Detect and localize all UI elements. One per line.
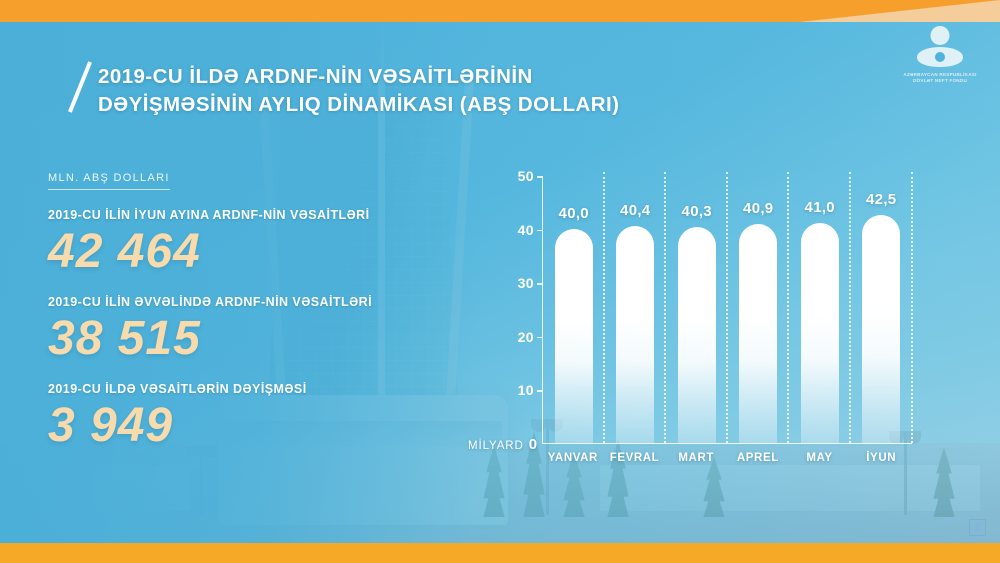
sofaz-logo-icon xyxy=(917,26,963,68)
y-axis-tick: 50 xyxy=(518,168,543,184)
stat-value: 42 464 xyxy=(48,223,448,281)
stat-block: 2019-CU İLDƏ VƏSAİTLƏRİN DƏYİŞMƏSİ 3 949 xyxy=(48,382,448,455)
slide: 2019-CU İLDƏ ARDNF-NİN VƏSAİTLƏRİNİN DƏY… xyxy=(0,0,1000,563)
bar-series: 40,040,440,340,941,042,5 xyxy=(543,176,912,443)
logo-head-shape xyxy=(931,26,950,45)
chart-plot-area: 50403020100 40,040,440,340,941,042,5 xyxy=(542,176,912,444)
bar-column[interactable]: 40,9 xyxy=(728,176,790,443)
logo-arms-shape xyxy=(917,47,963,67)
stat-value: 3 949 xyxy=(48,397,448,455)
y-axis-tick: 40 xyxy=(518,222,543,238)
stat-label: 2019-CU İLİN İYUN AYINA ARDNF-NİN VƏSAİT… xyxy=(48,208,448,222)
bar[interactable] xyxy=(739,224,777,443)
logo-text-line-2: DÖVLƏT NEFT FONDU xyxy=(892,78,988,84)
bar-value-label: 41,0 xyxy=(805,199,835,216)
bar-column[interactable]: 40,0 xyxy=(543,176,605,443)
stat-block: 2019-CU İLİN ƏVVƏLİNDƏ ARDNF-NİN VƏSAİTL… xyxy=(48,295,448,368)
y-axis-tick: 30 xyxy=(518,275,543,291)
bar-column[interactable]: 41,0 xyxy=(789,176,851,443)
x-axis-label: YANVAR xyxy=(542,452,604,464)
x-axis-label: MART xyxy=(665,452,727,464)
stat-block: 2019-CU İLİN İYUN AYINA ARDNF-NİN VƏSAİT… xyxy=(48,208,448,281)
bar[interactable] xyxy=(862,215,900,443)
page-number-badge: 2 xyxy=(969,519,986,536)
bar[interactable] xyxy=(616,226,654,443)
page-title: 2019-CU İLDƏ ARDNF-NİN VƏSAİTLƏRİNİN DƏY… xyxy=(98,63,718,119)
title-line-2: DƏYİŞMƏSİNİN AYLIQ DİNAMİKASI (ABŞ DOLLA… xyxy=(98,91,718,119)
bar-column[interactable]: 42,5 xyxy=(851,176,913,443)
bar[interactable] xyxy=(801,223,839,443)
stats-panel: MLN. ABŞ DOLLARI 2019-CU İLİN İYUN AYINA… xyxy=(48,168,448,469)
bar[interactable] xyxy=(555,229,593,443)
bar-column[interactable]: 40,4 xyxy=(605,176,667,443)
x-axis-label: APREL xyxy=(727,452,789,464)
bottom-band xyxy=(0,543,1000,563)
bar-column[interactable]: 40,3 xyxy=(666,176,728,443)
stat-label: 2019-CU İLDƏ VƏSAİTLƏRİN DƏYİŞMƏSİ xyxy=(48,382,448,396)
y-axis-tick: 10 xyxy=(518,382,543,398)
x-axis-label: MAY xyxy=(789,452,851,464)
stat-value: 38 515 xyxy=(48,310,448,368)
x-axis-label: İYUN xyxy=(850,452,912,464)
unit-label: MLN. ABŞ DOLLARI xyxy=(48,172,170,190)
bar-value-label: 40,4 xyxy=(620,202,650,219)
stat-label: 2019-CU İLİN ƏVVƏLİNDƏ ARDNF-NİN VƏSAİTL… xyxy=(48,295,448,309)
bar[interactable] xyxy=(678,227,716,443)
x-axis-label: FEVRAL xyxy=(604,452,666,464)
sofaz-logo: AZƏRBAYCAN RESPUBLİKASI DÖVLƏT NEFT FOND… xyxy=(892,26,988,84)
y-axis-tick: 20 xyxy=(518,329,543,345)
x-axis-labels: YANVARFEVRALMARTAPRELMAYİYUN xyxy=(542,452,912,464)
bar-chart: 50403020100 40,040,440,340,941,042,5 YAN… xyxy=(470,168,930,468)
bar-value-label: 40,9 xyxy=(743,200,773,217)
title-line-1: 2019-CU İLDƏ ARDNF-NİN VƏSAİTLƏRİNİN xyxy=(98,63,718,91)
bar-value-label: 40,3 xyxy=(682,203,712,220)
y-axis-origin-value: 0 xyxy=(529,436,537,453)
y-axis-unit-label: MİLYARD0 xyxy=(468,436,537,453)
bar-value-label: 42,5 xyxy=(866,191,896,208)
bar-value-label: 40,0 xyxy=(559,205,589,222)
y-axis-unit-text: MİLYARD xyxy=(468,440,524,452)
